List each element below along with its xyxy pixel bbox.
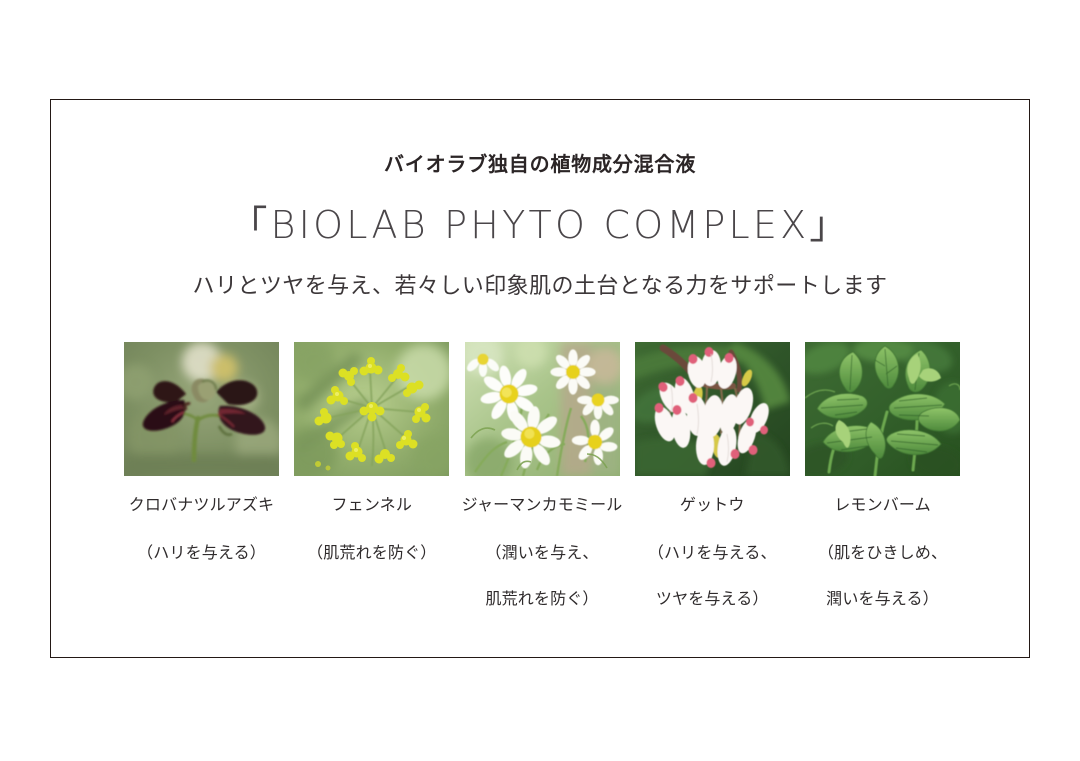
german-chamomile-photo [465, 342, 620, 476]
ingredient-desc: （潤いを与え、 肌荒れを防ぐ） [465, 531, 620, 624]
lemon-balm-photo [805, 342, 960, 476]
panel-tagline: ハリとツヤを与え、若々しい印象肌の土台となる力をサポートします [51, 268, 1029, 300]
ingredient-item-german-chamomile: ジャーマンカモミール （潤いを与え、 肌荒れを防ぐ） [465, 342, 620, 624]
ingredient-desc-line: ツヤを与える） [635, 577, 790, 623]
fennel-photo [294, 342, 449, 476]
ingredient-name: クロバナツルアズキ [104, 491, 299, 515]
ingredient-desc-line: （肌荒れを防ぐ） [294, 531, 449, 577]
ingredient-list: クロバナツルアズキ （ハリを与える） [124, 342, 960, 624]
ingredient-name: ジャーマンカモミール [445, 491, 640, 515]
ingredient-desc: （ハリを与える、 ツヤを与える） [635, 531, 790, 624]
gettou-photo [635, 342, 790, 476]
page-title: 「BIOLAB PHYTO COMPLEX」 [51, 194, 1029, 249]
ingredient-desc: （ハリを与える） [124, 531, 279, 577]
ingredient-item-gettou: ゲットウ （ハリを与える、 ツヤを与える） [635, 342, 790, 624]
ingredient-desc: （肌荒れを防ぐ） [294, 531, 449, 577]
ingredient-name: ゲットウ [635, 491, 790, 515]
kurobana-tsuru-azuki-photo [124, 342, 279, 476]
ingredient-name: レモンバーム [805, 491, 960, 515]
panel-eyebrow: バイオラブ独自の植物成分混合液 [51, 148, 1029, 177]
ingredient-item-kurobana-tsuru-azuki: クロバナツルアズキ （ハリを与える） [124, 342, 279, 624]
ingredient-desc-line: （ハリを与える、 [635, 531, 790, 577]
ingredient-desc: （肌をひきしめ、 潤いを与える） [805, 531, 960, 624]
ingredient-desc-line: （肌をひきしめ、 [805, 531, 960, 577]
ingredient-desc-line: 肌荒れを防ぐ） [465, 577, 620, 623]
ingredient-desc-line: （ハリを与える） [124, 531, 279, 577]
ingredient-item-fennel: フェンネル （肌荒れを防ぐ） [294, 342, 449, 624]
ingredient-desc-line: （潤いを与え、 [465, 531, 620, 577]
phyto-complex-panel: バイオラブ独自の植物成分混合液 「BIOLAB PHYTO COMPLEX」 ハ… [50, 99, 1030, 658]
ingredient-desc-line: 潤いを与える） [805, 577, 960, 623]
ingredient-name: フェンネル [294, 491, 449, 515]
ingredient-item-lemon-balm: レモンバーム （肌をひきしめ、 潤いを与える） [805, 342, 960, 624]
